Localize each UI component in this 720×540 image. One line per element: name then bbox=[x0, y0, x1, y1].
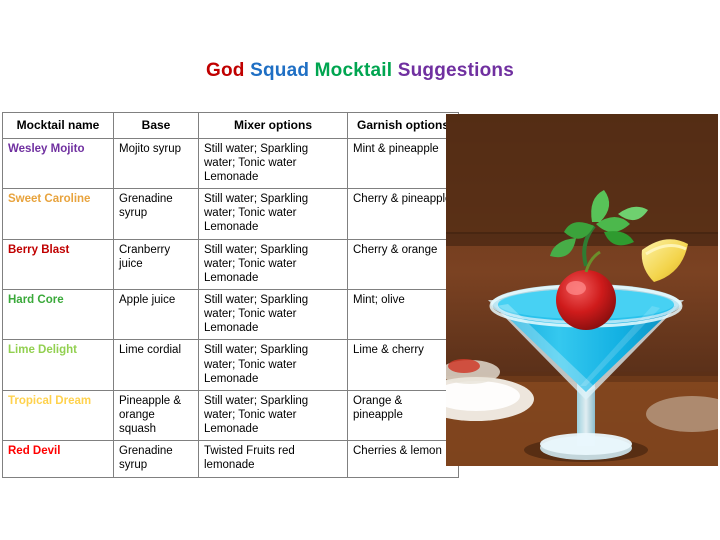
slide: God Squad Mocktail Suggestions Mocktail … bbox=[0, 0, 720, 540]
table-row: Berry BlastCranberry juiceStill water; S… bbox=[3, 239, 459, 289]
table-row: Hard CoreApple juiceStill water; Sparkli… bbox=[3, 290, 459, 340]
cell-base: Lime cordial bbox=[114, 340, 199, 390]
cell-mixer-options: Still water; Sparkling water; Tonic wate… bbox=[199, 390, 348, 440]
cell-base: Grenadine syrup bbox=[114, 189, 199, 239]
cell-mocktail-name: Red Devil bbox=[3, 441, 114, 477]
cell-mixer-options: Still water; Sparkling water; Tonic wate… bbox=[199, 340, 348, 390]
cell-mixer-options: Still water; Sparkling water; Tonic wate… bbox=[199, 138, 348, 188]
cell-garnish-options: Orange & pineapple bbox=[348, 390, 459, 440]
cell-garnish-options: Cherries & lemon bbox=[348, 441, 459, 477]
table-row: Red DevilGrenadine syrupTwisted Fruits r… bbox=[3, 441, 459, 477]
cell-garnish-options: Mint; olive bbox=[348, 290, 459, 340]
cell-mixer-options: Still water; Sparkling water; Tonic wate… bbox=[199, 290, 348, 340]
table-header: Mocktail name Base Mixer options Garnish… bbox=[3, 113, 459, 139]
cell-garnish-options: Mint & pineapple bbox=[348, 138, 459, 188]
page-title: God Squad Mocktail Suggestions bbox=[0, 60, 720, 82]
cell-mixer-options: Still water; Sparkling water; Tonic wate… bbox=[199, 189, 348, 239]
table-row: Sweet CarolineGrenadine syrupStill water… bbox=[3, 189, 459, 239]
column-header-garnish-options: Garnish options bbox=[348, 113, 459, 139]
cell-base: Grenadine syrup bbox=[114, 441, 199, 477]
cell-mixer-options: Still water; Sparkling water; Tonic wate… bbox=[199, 239, 348, 289]
mocktail-table-wrapper: Mocktail name Base Mixer options Garnish… bbox=[2, 112, 440, 478]
cell-mocktail-name: Hard Core bbox=[3, 290, 114, 340]
title-word-2: Squad bbox=[250, 60, 309, 81]
cell-garnish-options: Cherry & orange bbox=[348, 239, 459, 289]
cell-base: Apple juice bbox=[114, 290, 199, 340]
cell-garnish-options: Cherry & pineapple bbox=[348, 189, 459, 239]
table-row: Tropical DreamPineapple & orange squashS… bbox=[3, 390, 459, 440]
table-body: Wesley MojitoMojito syrupStill water; Sp… bbox=[3, 138, 459, 477]
cell-mocktail-name: Tropical Dream bbox=[3, 390, 114, 440]
cell-mocktail-name: Berry Blast bbox=[3, 239, 114, 289]
title-word-0: God bbox=[206, 60, 245, 81]
table-header-row: Mocktail name Base Mixer options Garnish… bbox=[3, 113, 459, 139]
table-row: Wesley MojitoMojito syrupStill water; Sp… bbox=[3, 138, 459, 188]
cell-mocktail-name: Wesley Mojito bbox=[3, 138, 114, 188]
table-row: Lime DelightLime cordialStill water; Spa… bbox=[3, 340, 459, 390]
title-word-4: Mocktail bbox=[315, 60, 393, 81]
title-word-6: Suggestions bbox=[398, 60, 514, 81]
cell-base: Cranberry juice bbox=[114, 239, 199, 289]
cell-mocktail-name: Sweet Caroline bbox=[3, 189, 114, 239]
cell-base: Pineapple & orange squash bbox=[114, 390, 199, 440]
column-header-mixer-options: Mixer options bbox=[199, 113, 348, 139]
cell-mixer-options: Twisted Fruits red lemonade bbox=[199, 441, 348, 477]
column-header-mocktail-name: Mocktail name bbox=[3, 113, 114, 139]
cell-garnish-options: Lime & cherry bbox=[348, 340, 459, 390]
cocktail-photo bbox=[446, 114, 718, 466]
cell-mocktail-name: Lime Delight bbox=[3, 340, 114, 390]
cell-base: Mojito syrup bbox=[114, 138, 199, 188]
column-header-base: Base bbox=[114, 113, 199, 139]
mocktail-table: Mocktail name Base Mixer options Garnish… bbox=[2, 112, 459, 478]
